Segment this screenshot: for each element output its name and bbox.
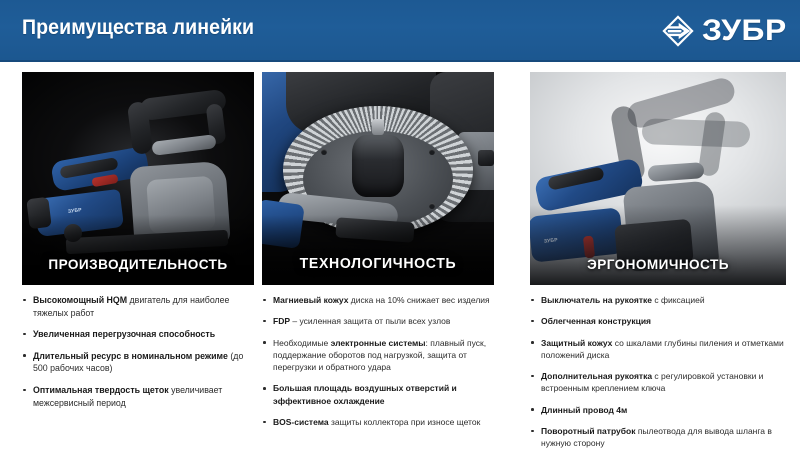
flange-hole	[321, 149, 327, 155]
photo-bottom-shade	[530, 205, 786, 285]
tool-bolt-right	[478, 150, 494, 166]
list-item: Защитный кожух со шкалами глубины пилени…	[530, 337, 786, 362]
column-technology: ТЕХНОЛОГИЧНОСТЬ Магниевый кожух диска на…	[262, 72, 494, 437]
list-item: BOS-система защиты коллектора при износе…	[262, 416, 494, 428]
bullet-rest: диска на 10% снижает вес изделия	[348, 295, 489, 305]
list-item: Поворотный патрубок пылеотвода для вывод…	[530, 425, 786, 450]
brand-wordmark: ЗУБР	[702, 16, 787, 46]
photo-bottom-shade	[22, 215, 254, 285]
list-item: Длительный ресурс в номинальном режиме (…	[22, 350, 254, 375]
content-columns: ЗУБР ПР	[0, 62, 800, 450]
bullet-strong: Выключатель на рукоятке	[541, 295, 652, 305]
list-item: Оптимальная твердость щеток увеличивает …	[22, 384, 254, 409]
column-performance: ЗУБР ПР	[22, 72, 254, 418]
list-item: Дополнительная рукоятка с регулировкой у…	[530, 370, 786, 395]
list-item: Магниевый кожух диска на 10% снижает вес…	[262, 294, 494, 306]
disc-spindle-screw	[372, 119, 384, 135]
bullet-rest: защиты коллектора при износе щеток	[329, 417, 481, 427]
bullet-strong: BOS-система	[273, 417, 329, 427]
bullet-strong: Поворотный патрубок	[541, 426, 635, 436]
list-item: Большая площадь воздушных отверстий и эф…	[262, 382, 494, 407]
header-bar: Преимущества линейки ЗУБР	[0, 0, 800, 62]
flange-hole	[429, 149, 435, 155]
bullet-strong: Длительный ресурс в номинальном режиме	[33, 351, 228, 361]
bullet-strong: Высокомощный HQM	[33, 295, 127, 305]
bullet-strong: Увеличенная перегрузочная способность	[33, 329, 215, 339]
bullet-strong: Длинный провод 4м	[541, 405, 627, 415]
bullet-list-technology: Магниевый кожух диска на 10% снижает вес…	[262, 294, 494, 428]
bullet-strong: Большая площадь воздушных отверстий и эф…	[273, 383, 457, 405]
photo-diamond-disc: ТЕХНОЛОГИЧНОСТЬ	[262, 72, 494, 285]
list-item: Необходимые электронные системы: плавный…	[262, 337, 494, 374]
disc-spindle-hub	[352, 135, 404, 197]
photo-caption: ТЕХНОЛОГИЧНОСТЬ	[265, 256, 490, 272]
flange-hole	[429, 203, 435, 209]
list-item: Длинный провод 4м	[530, 404, 786, 416]
column-ergonomics: ЗУБР ЭРГОНОМИЧНОСТЬ Выключатель на рукоя…	[530, 72, 786, 459]
bullet-rest: с фиксацией	[652, 295, 705, 305]
bullet-rest: – усиленная защита от пыли всех узлов	[290, 316, 450, 326]
bullet-strong: Дополнительная рукоятка	[541, 371, 652, 381]
bullet-strong: Магниевый кожух	[273, 295, 348, 305]
photo-art: ЗУБР	[530, 72, 786, 285]
bullet-pre: Необходимые	[273, 338, 331, 348]
photo-art: ЗУБР	[22, 72, 254, 285]
bullet-list-performance: Высокомощный HQM двигатель для наиболее …	[22, 294, 254, 409]
list-item: Высокомощный HQM двигатель для наиболее …	[22, 294, 254, 319]
list-item: Увеличенная перегрузочная способность	[22, 328, 254, 341]
slide-root: Преимущества линейки ЗУБР	[0, 0, 800, 450]
bullet-strong: FDP	[273, 316, 290, 326]
handle-ghost-position-2	[642, 118, 751, 148]
photo-bottom-shade	[262, 215, 494, 285]
zubr-diamond-logo-icon	[661, 14, 695, 48]
bullet-strong: Облегченная конструкция	[541, 316, 651, 326]
photo-art	[262, 72, 494, 285]
photo-adjustable-handle: ЗУБР ЭРГОНОМИЧНОСТЬ	[530, 72, 786, 285]
photo-wall-chaser-dark: ЗУБР ПР	[22, 72, 254, 285]
photo-caption: ЭРГОНОМИЧНОСТЬ	[534, 256, 782, 272]
photo-caption: ПРОИЗВОДИТЕЛЬНОСТЬ	[25, 256, 250, 272]
bullet-list-ergonomics: Выключатель на рукоятке с фиксацией Обле…	[530, 294, 786, 450]
bullet-strong: Защитный кожух	[541, 338, 612, 348]
page-title: Преимущества линейки	[22, 16, 254, 40]
list-item: Выключатель на рукоятке с фиксацией	[530, 294, 786, 306]
bullet-strong: электронные системы	[331, 338, 426, 348]
list-item: FDP – усиленная защита от пыли всех узло…	[262, 315, 494, 327]
list-item: Облегченная конструкция	[530, 315, 786, 327]
brand-logo: ЗУБР	[661, 12, 782, 50]
bullet-strong: Оптимальная твердость щеток	[33, 385, 169, 395]
